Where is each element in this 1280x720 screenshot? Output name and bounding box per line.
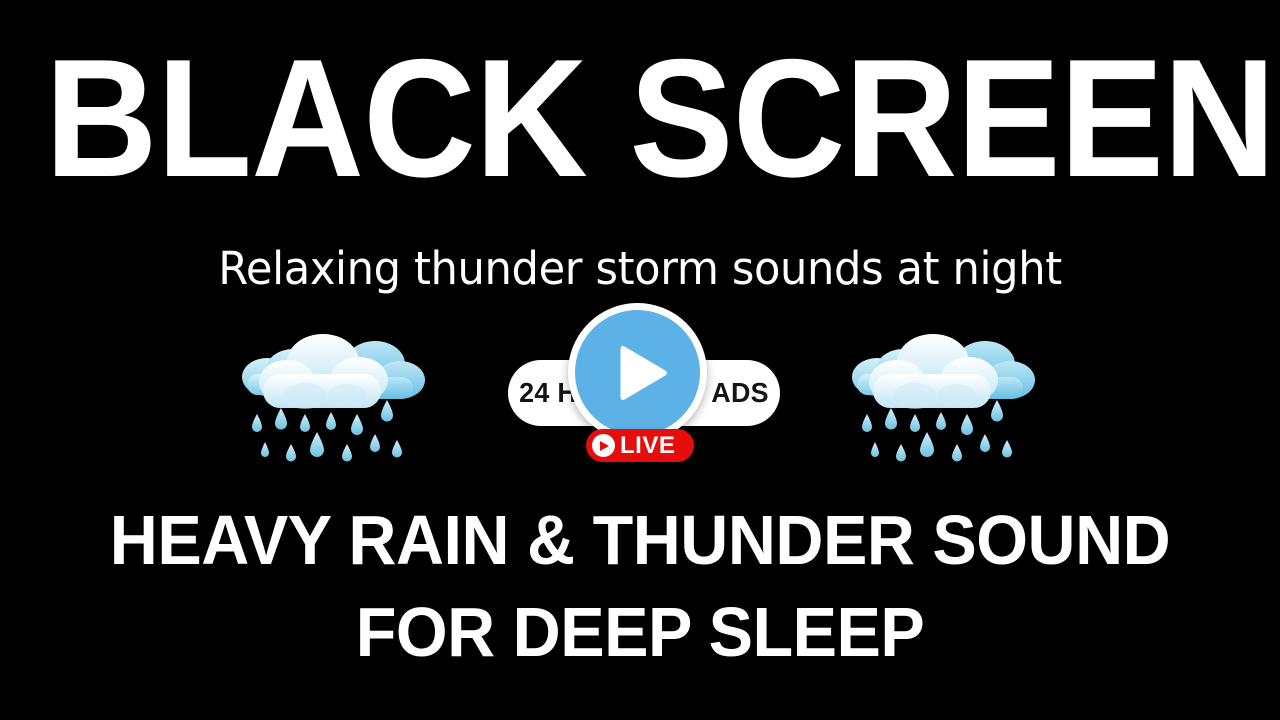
headline-line-2: FOR DEEP SLEEP — [32, 597, 1248, 667]
play-triangle-icon — [612, 342, 670, 404]
headline-line-1: HEAVY RAIN & THUNDER SOUND — [32, 505, 1248, 575]
subtitle-text: Relaxing thunder storm sounds at night — [26, 246, 1255, 291]
live-play-icon — [592, 434, 615, 457]
play-button[interactable] — [568, 303, 707, 442]
live-badge: LIVE — [586, 429, 694, 462]
cloud-with-rain-icon — [235, 322, 425, 470]
page-title: BLACK SCREEN — [45, 34, 1235, 202]
cloud-with-rain-icon — [845, 322, 1035, 470]
video-thumbnail-canvas: BLACK SCREEN Relaxing thunder storm soun… — [0, 0, 1280, 720]
live-badge-label: LIVE — [620, 434, 675, 458]
